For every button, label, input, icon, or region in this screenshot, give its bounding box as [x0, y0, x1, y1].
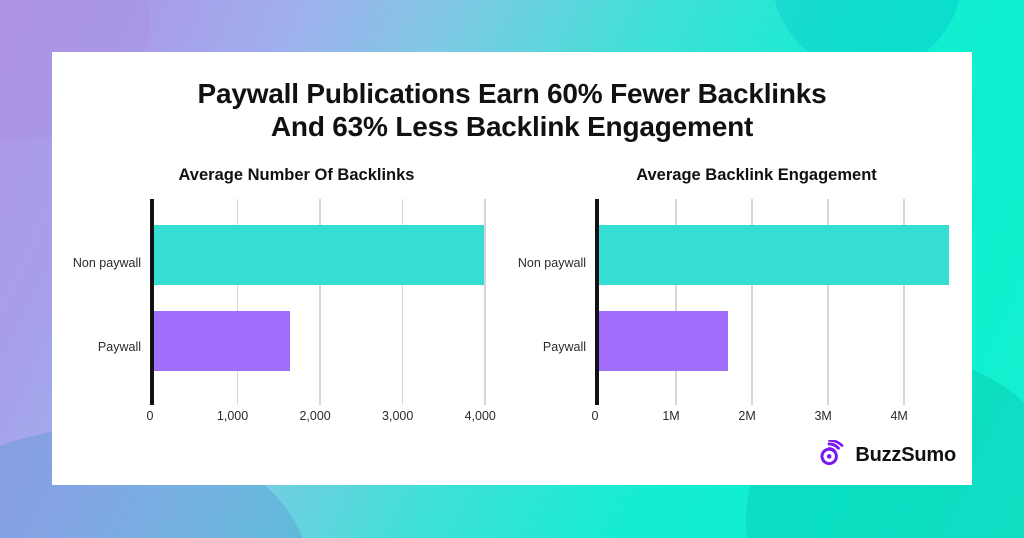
charts-container: Average Number Of Backlinks Non paywall … — [52, 166, 972, 431]
gridline — [484, 199, 486, 405]
category-label-paywall-right: Paywall — [543, 340, 586, 354]
bar-non-paywall — [154, 225, 484, 285]
x-tick-label: 4,000 — [465, 409, 496, 423]
chart-card: Paywall Publications Earn 60% Fewer Back… — [52, 52, 972, 485]
x-tick-label: 3,000 — [382, 409, 413, 423]
chart-average-backlink-engagement: Average Backlink Engagement Non paywall … — [509, 166, 964, 431]
chart-subtitle-right: Average Backlink Engagement — [509, 166, 964, 185]
x-axis-ticks-right: 01M2M3M4M — [509, 409, 964, 431]
x-tick-label: 2M — [738, 409, 755, 423]
x-tick-label: 0 — [147, 409, 154, 423]
x-tick-label: 1M — [662, 409, 679, 423]
x-tick-label: 0 — [592, 409, 599, 423]
category-axis-left: Non paywall Paywall — [54, 199, 150, 405]
category-label-non-paywall-right: Non paywall — [518, 256, 586, 270]
plot-area-right — [595, 199, 964, 405]
buzzsumo-signal-icon — [820, 440, 846, 471]
x-tick-label: 4M — [890, 409, 907, 423]
plot-area-left — [150, 199, 509, 405]
plot-row-left: Non paywall Paywall — [54, 199, 509, 405]
infographic-canvas: Paywall Publications Earn 60% Fewer Back… — [0, 0, 1024, 538]
x-tick-label: 1,000 — [217, 409, 248, 423]
bar-paywall — [154, 311, 290, 371]
x-axis-ticks-left: 01,0002,0003,0004,000 — [54, 409, 509, 431]
plot-row-right: Non paywall Paywall — [509, 199, 964, 405]
bar-non-paywall — [599, 225, 949, 285]
x-tick-label: 2,000 — [299, 409, 330, 423]
chart-subtitle-left: Average Number Of Backlinks — [54, 166, 509, 185]
category-axis-right: Non paywall Paywall — [509, 199, 595, 405]
x-tick-label: 3M — [814, 409, 831, 423]
chart-average-number-of-backlinks: Average Number Of Backlinks Non paywall … — [54, 166, 509, 431]
brand-name: BuzzSumo — [855, 444, 956, 467]
page-title: Paywall Publications Earn 60% Fewer Back… — [52, 52, 972, 144]
category-label-paywall-left: Paywall — [98, 340, 141, 354]
category-label-non-paywall-left: Non paywall — [73, 256, 141, 270]
bar-paywall — [599, 311, 728, 371]
brand-logo: BuzzSumo — [820, 440, 956, 471]
